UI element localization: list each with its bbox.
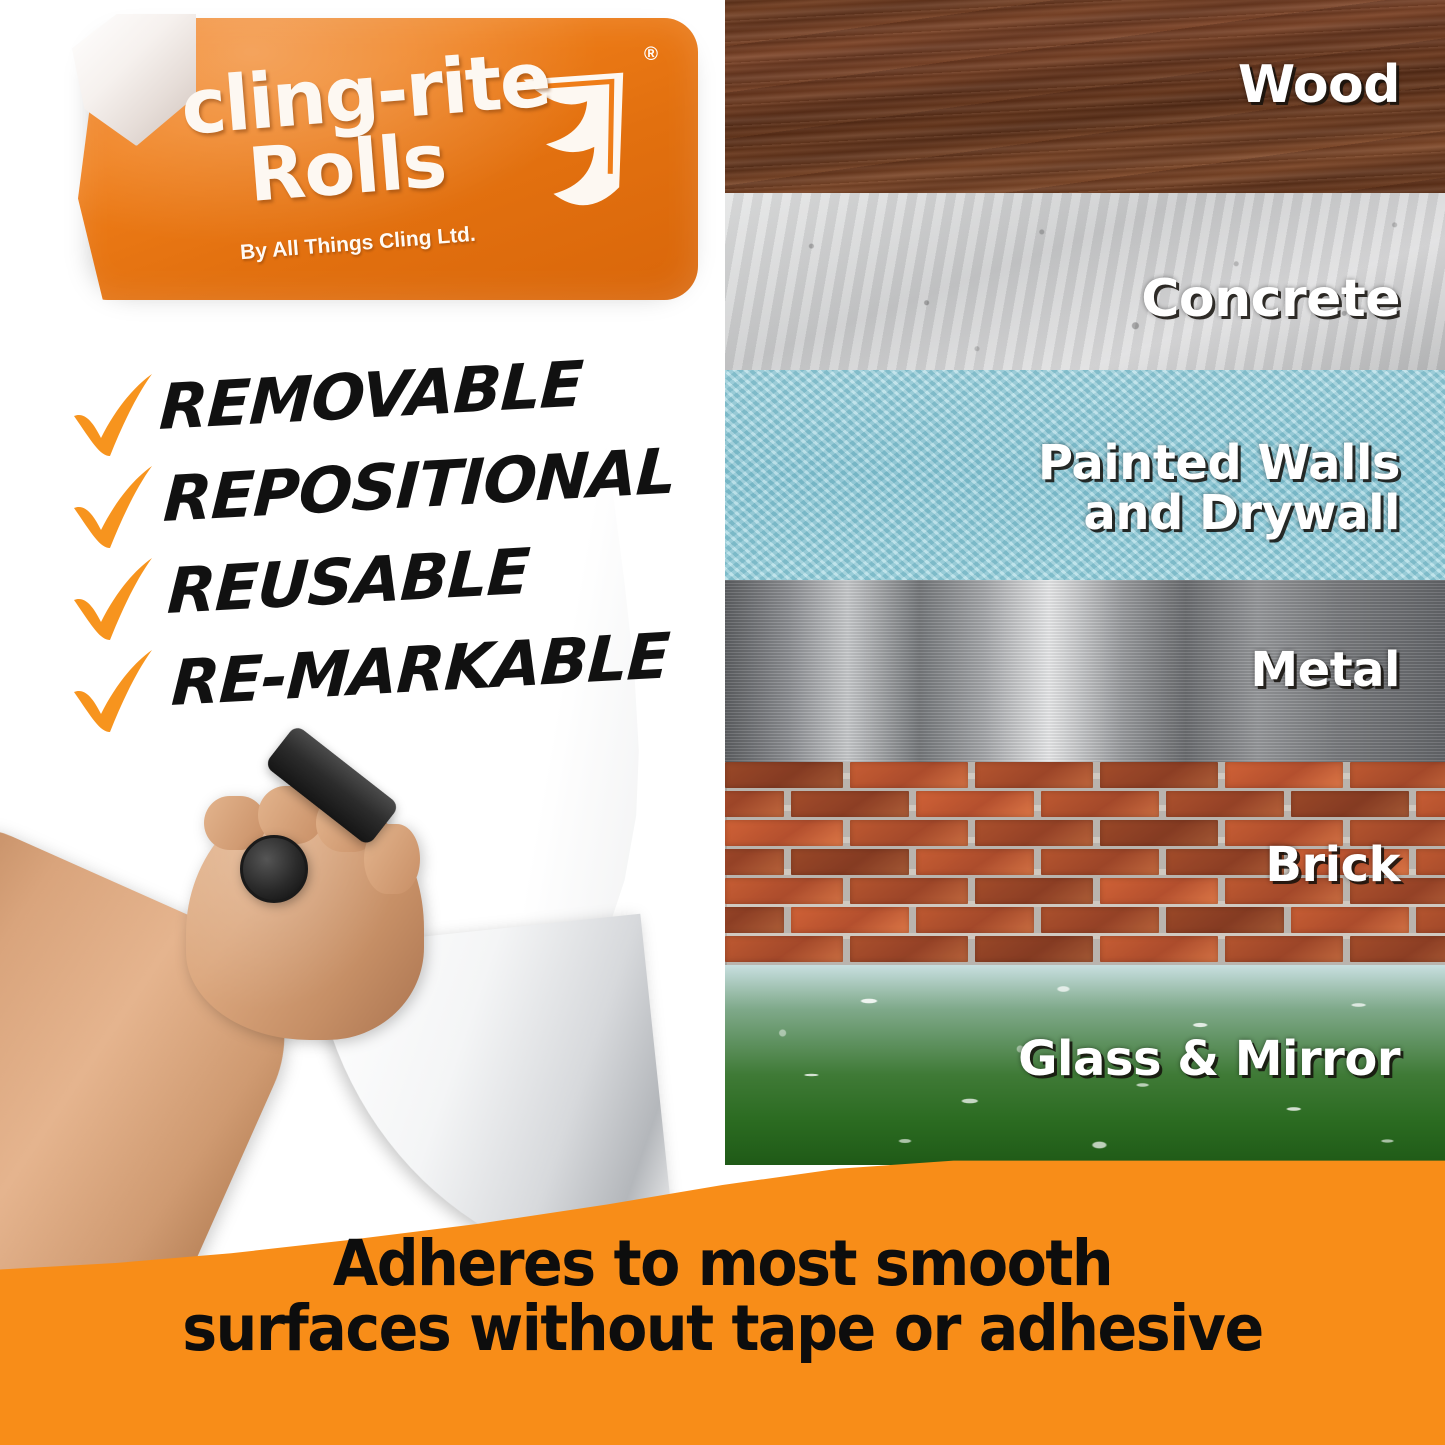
- brick: [1416, 849, 1445, 875]
- brick: [850, 820, 968, 846]
- brick: [1041, 791, 1159, 817]
- brick: [975, 762, 1093, 788]
- brick: [1291, 791, 1409, 817]
- feature-checklist: REMOVABLE REPOSITIONAL REUSABLE: [70, 372, 810, 740]
- brick: [975, 820, 1093, 846]
- surface-label-glass-mirror: Glass & Mirror: [1018, 1034, 1400, 1084]
- footer-line-2: surfaces without tape or adhesive: [51, 1297, 1395, 1362]
- surface-label-metal: Metal: [1250, 645, 1400, 695]
- surface-label-painted-walls: Painted Walls and Drywall: [1038, 438, 1400, 539]
- brick: [916, 791, 1034, 817]
- brick: [1100, 820, 1218, 846]
- brick: [850, 878, 968, 904]
- brick: [791, 849, 909, 875]
- brick: [1166, 791, 1284, 817]
- surface-label-wood: Wood: [1238, 58, 1400, 113]
- brick: [725, 820, 843, 846]
- brick: [791, 791, 909, 817]
- footer-line-1: Adheres to most smooth: [51, 1232, 1395, 1297]
- checkmark-icon: [70, 464, 156, 556]
- brick-course: [725, 762, 1445, 788]
- checkmark-icon: [70, 648, 156, 740]
- brick: [1100, 762, 1218, 788]
- brick: [725, 762, 843, 788]
- brick-course: [725, 936, 1445, 962]
- surface-band-stack: Wood Concrete Painted Walls and Drywall …: [725, 0, 1445, 1165]
- brick-course: [725, 907, 1445, 933]
- checkmark-icon: [70, 372, 156, 464]
- brick: [975, 936, 1093, 962]
- product-feature-graphic: Wood Concrete Painted Walls and Drywall …: [0, 0, 1445, 1445]
- brick: [1100, 936, 1218, 962]
- surface-label-brick: Brick: [1265, 840, 1400, 890]
- brick: [1041, 907, 1159, 933]
- brick: [916, 849, 1034, 875]
- hand: [186, 790, 424, 1040]
- surface-label-concrete: Concrete: [1141, 272, 1400, 327]
- brick: [1166, 907, 1284, 933]
- brick: [1041, 849, 1159, 875]
- brick: [1350, 936, 1445, 962]
- marker-end-cap: [240, 835, 308, 903]
- brick: [791, 907, 909, 933]
- brick: [1416, 791, 1445, 817]
- brick: [1225, 762, 1343, 788]
- brick: [850, 762, 968, 788]
- brick: [725, 849, 784, 875]
- brick: [1225, 936, 1343, 962]
- brick: [850, 936, 968, 962]
- brick: [975, 878, 1093, 904]
- feature-item: RE-MARKABLE: [70, 648, 810, 740]
- registered-trademark-icon: ®: [644, 44, 658, 66]
- feature-label: REUSABLE: [166, 540, 531, 623]
- brick: [1100, 878, 1218, 904]
- footer-claim: Adheres to most smooth surfaces without …: [51, 1232, 1395, 1362]
- brick: [725, 936, 843, 962]
- brick: [916, 907, 1034, 933]
- checkmark-icon: [70, 556, 156, 648]
- brick: [1350, 762, 1445, 788]
- brick: [1291, 907, 1409, 933]
- brand-logo-sticker: cling-rite Rolls ® By All Things Cling L…: [78, 18, 698, 300]
- brick: [725, 878, 843, 904]
- brick: [725, 791, 784, 817]
- brick: [725, 907, 784, 933]
- brick: [1416, 907, 1445, 933]
- brick-course: [725, 791, 1445, 817]
